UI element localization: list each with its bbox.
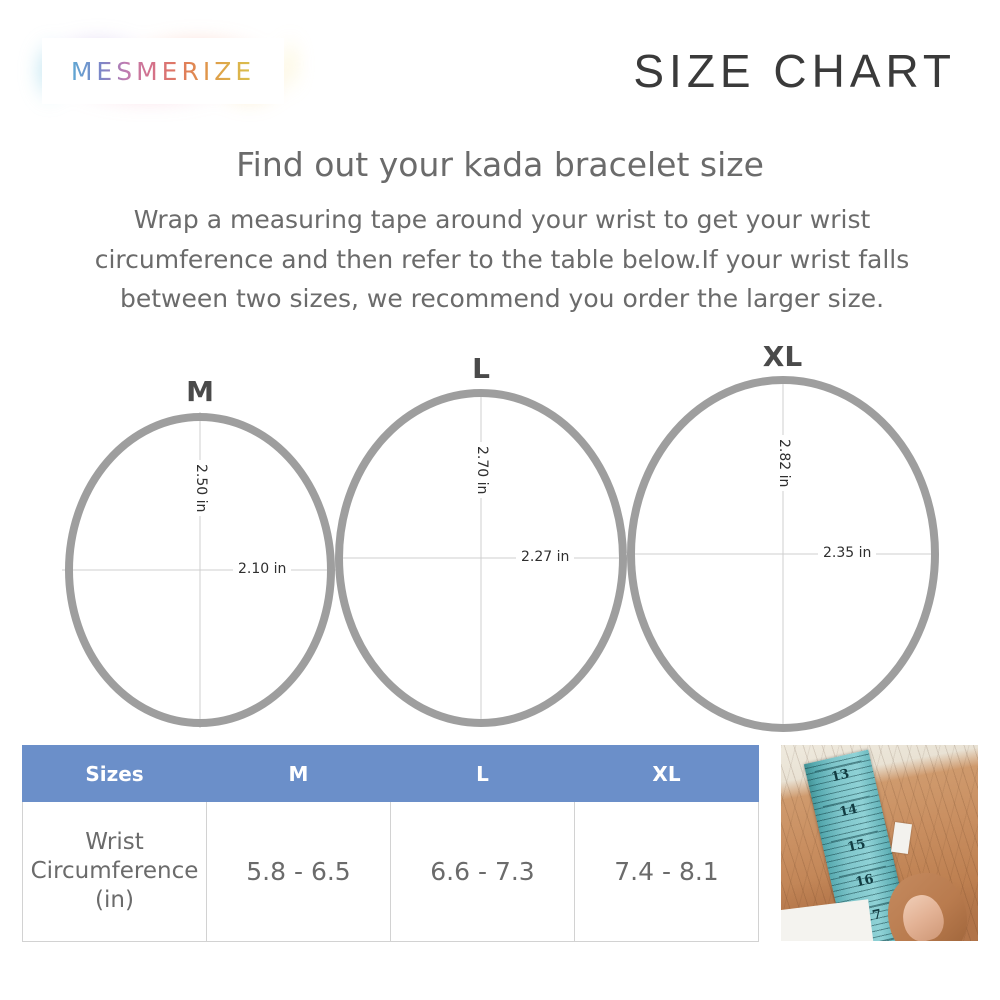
cell-wrist-xl: 7.4 - 8.1 <box>575 802 759 942</box>
table-header-sizes: Sizes <box>23 746 207 802</box>
bracelet-diagram-xl: XL 2.82 in 2.35 in <box>620 340 945 735</box>
table-header-m: M <box>207 746 391 802</box>
cell-wrist-l: 6.6 - 7.3 <box>391 802 575 942</box>
cell-wrist-m: 5.8 - 6.5 <box>207 802 391 942</box>
diagram-label-xl: XL <box>620 340 945 373</box>
bracelet-ellipse-l <box>330 352 632 735</box>
diagram-width-label-m: 2.10 in <box>233 561 291 577</box>
bracelet-diagram-l: L 2.70 in 2.27 in <box>330 352 632 735</box>
size-table: Sizes M L XL Wrist Circumference (in) 5.… <box>22 745 759 942</box>
diagram-label-l: L <box>330 352 632 385</box>
brand-logo: MESMERIZE <box>42 38 284 104</box>
table-row: Wrist Circumference (in) 5.8 - 6.5 6.6 -… <box>23 802 759 942</box>
table-header-l: L <box>391 746 575 802</box>
size-chart-page: MESMERIZE SIZE CHART Find out your kada … <box>0 0 1000 1000</box>
section-heading: Find out your kada bracelet size <box>0 145 1000 184</box>
diagram-width-label-l: 2.27 in <box>516 549 574 565</box>
page-title: SIZE CHART <box>633 44 956 98</box>
tape-mark-16: 16 <box>838 865 889 893</box>
diagram-width-label-xl: 2.35 in <box>818 545 876 561</box>
tape-mark-15: 15 <box>830 830 881 858</box>
row-label-wrist-circumference: Wrist Circumference (in) <box>23 802 207 942</box>
logo-plate: MESMERIZE <box>42 38 284 104</box>
diagram-height-label-m: 2.50 in <box>193 460 209 516</box>
diagram-height-label-xl: 2.82 in <box>776 435 792 491</box>
intro-paragraph: Wrap a measuring tape around your wrist … <box>52 200 952 319</box>
tape-mark-13: 13 <box>814 761 865 789</box>
table-header-row: Sizes M L XL <box>23 746 759 802</box>
bracelet-diagram-m: M 2.50 in 2.10 in <box>55 375 345 735</box>
wrist-measurement-photo: 13 14 15 16 17 18 <box>781 745 978 941</box>
tape-mark-14: 14 <box>822 796 873 824</box>
bracelet-ellipse-xl <box>620 340 945 735</box>
diagram-label-m: M <box>55 375 345 408</box>
logo-text: MESMERIZE <box>71 57 255 86</box>
bracelet-diagram-row: M 2.50 in 2.10 in L 2.70 in 2.27 in XL <box>0 340 1000 740</box>
bracelet-ellipse-m <box>55 375 345 735</box>
table-header-xl: XL <box>575 746 759 802</box>
diagram-height-label-l: 2.70 in <box>474 442 490 498</box>
